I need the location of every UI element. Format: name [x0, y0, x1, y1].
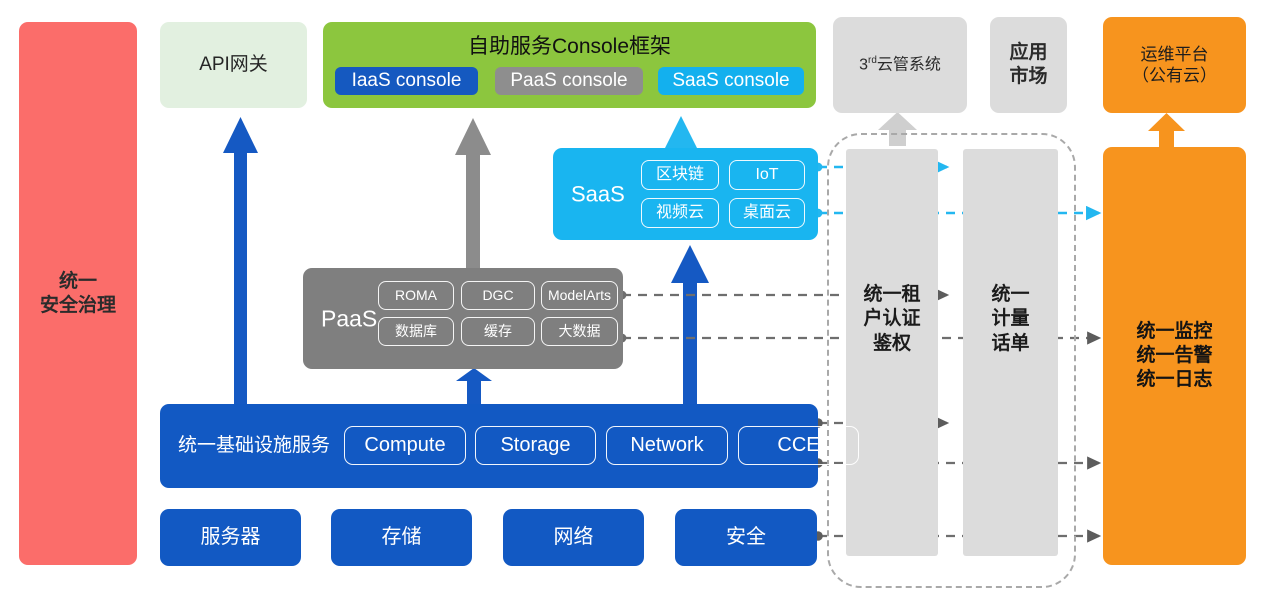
- unified-infrastructure-label: 统一基础设施服务: [178, 434, 330, 458]
- self-service-console-frame[interactable]: 自助服务Console框架 IaaS console PaaS console …: [323, 22, 816, 108]
- api-gateway-label: API网关: [199, 53, 268, 77]
- ops-pillar-label: 统一监控统一告警统一日志: [1136, 320, 1212, 391]
- third-party-cloud-management-card[interactable]: 3rd云管系统: [833, 17, 967, 113]
- saas-box[interactable]: SaaS 区块链 IoT 视频云 桌面云: [553, 148, 818, 240]
- arrow-infra-to-paas: [456, 368, 492, 406]
- unified-security-governance-label: 统一安全治理: [40, 270, 116, 318]
- saas-chip-desktop-cloud[interactable]: 桌面云: [729, 198, 805, 228]
- paas-chip-bigdata[interactable]: 大数据: [541, 317, 618, 346]
- paas-chip-modelarts[interactable]: ModelArts: [541, 281, 618, 310]
- paas-label: PaaS: [321, 304, 377, 333]
- arrow-infra-to-apigw: [214, 117, 258, 406]
- architecture-diagram: 统一安全治理 API网关 自助服务Console框架 IaaS console …: [0, 0, 1265, 605]
- arrow-infra-to-saas: [671, 245, 709, 406]
- saas-chip-blockchain[interactable]: 区块链: [641, 160, 719, 190]
- unified-infrastructure-bar[interactable]: 统一基础设施服务 Compute Storage Network CCE: [160, 404, 818, 488]
- saas-chip-video-cloud[interactable]: 视频云: [641, 198, 719, 228]
- arrow-paas-to-console: [455, 118, 491, 272]
- third-party-cloud-management-label: 3rd云管系统: [859, 55, 941, 75]
- saas-console-pill[interactable]: SaaS console: [658, 67, 804, 95]
- iaas-console-pill[interactable]: IaaS console: [335, 67, 478, 95]
- paas-console-pill[interactable]: PaaS console: [495, 67, 643, 95]
- ops-pillar-card[interactable]: 统一监控统一告警统一日志: [1103, 147, 1246, 565]
- console-frame-title: 自助服务Console框架: [323, 34, 816, 60]
- infra-chip-network[interactable]: Network: [606, 426, 728, 465]
- infra-chip-cce[interactable]: CCE: [738, 426, 859, 465]
- base-card-server[interactable]: 服务器: [160, 509, 301, 566]
- paas-chip-dgc[interactable]: DGC: [461, 281, 535, 310]
- base-card-security[interactable]: 安全: [675, 509, 817, 566]
- ops-platform-card[interactable]: 运维平台（公有云）: [1103, 17, 1246, 113]
- paas-chip-roma[interactable]: ROMA: [378, 281, 454, 310]
- api-gateway-card[interactable]: API网关: [160, 22, 307, 108]
- arrow-opspillar-to-opsplatform: [1148, 113, 1185, 150]
- base-card-storage[interactable]: 存储: [331, 509, 472, 566]
- app-market-label: 应用市场: [1009, 41, 1047, 89]
- app-market-card[interactable]: 应用市场: [990, 17, 1067, 113]
- infra-chip-storage[interactable]: Storage: [475, 426, 596, 465]
- unified-metering-label: 统一计量话单: [963, 283, 1058, 356]
- paas-chip-cache[interactable]: 缓存: [461, 317, 535, 346]
- saas-label: SaaS: [571, 180, 625, 208]
- infra-chip-compute[interactable]: Compute: [344, 426, 466, 465]
- unified-security-governance-column[interactable]: 统一安全治理: [19, 22, 137, 565]
- paas-chip-database[interactable]: 数据库: [378, 317, 454, 346]
- saas-chip-iot[interactable]: IoT: [729, 160, 805, 190]
- ordinal-superscript: rd: [868, 55, 877, 66]
- ops-platform-label: 运维平台（公有云）: [1132, 44, 1217, 87]
- base-card-network[interactable]: 网络: [503, 509, 644, 566]
- paas-box[interactable]: PaaS ROMA DGC ModelArts 数据库 缓存 大数据: [303, 268, 623, 369]
- unified-tenant-auth-label: 统一租户认证鉴权: [846, 283, 938, 356]
